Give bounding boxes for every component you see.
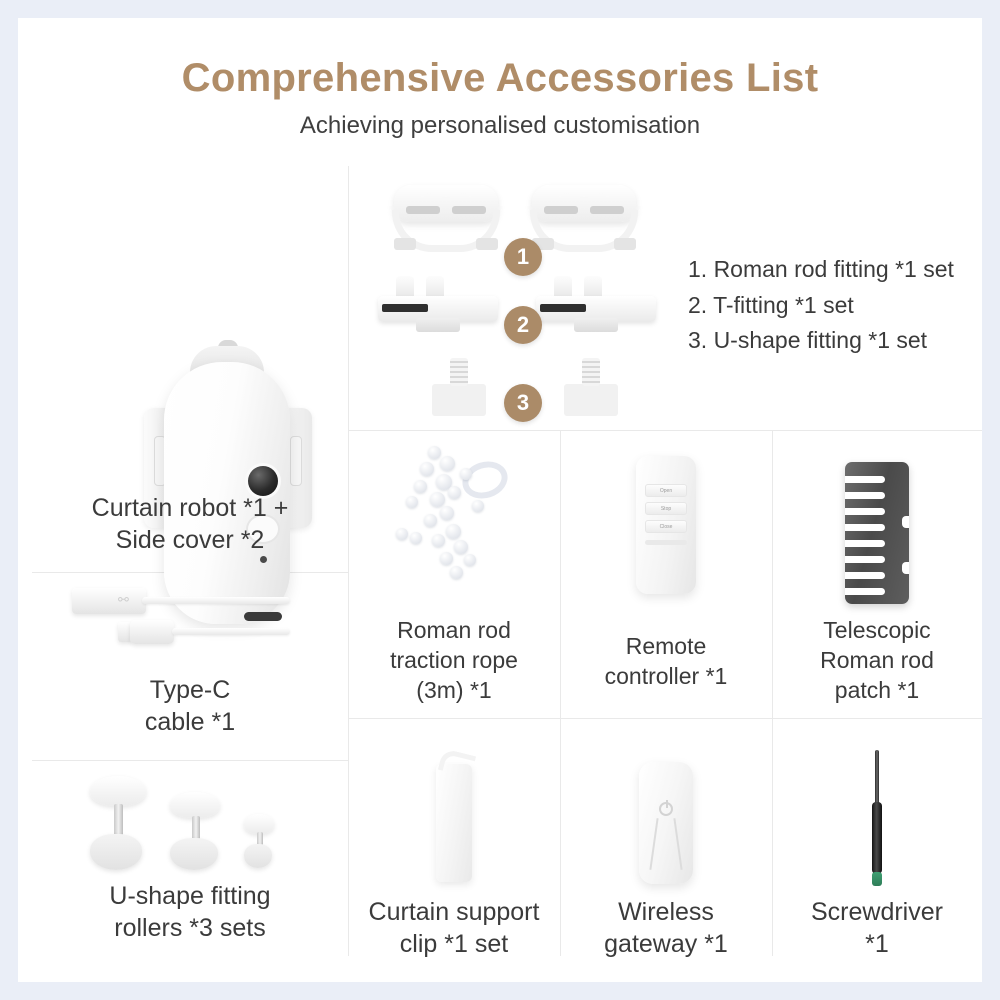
rope-bead [472, 500, 484, 512]
roman-fitting-tip [476, 238, 498, 250]
roller-cap-bottom-icon [90, 834, 142, 870]
screwdriver-image [772, 748, 982, 888]
screwdriver-handle-icon [872, 802, 882, 874]
curtain-support-clip-image [348, 754, 560, 884]
roller-shaft-icon [114, 804, 123, 838]
patch-slot [845, 540, 885, 547]
t-fitting-foot [416, 318, 460, 332]
t-fitting-slot [382, 304, 428, 312]
wireless-gateway-label-line1: Wireless [560, 896, 772, 928]
badge-3: 3 [504, 384, 542, 422]
usb-trident-icon: ⚯ [118, 592, 129, 608]
cell-traction-rope[interactable]: Roman rod traction rope (3m) *1 [348, 430, 560, 718]
page-title: Comprehensive Accessories List [18, 56, 982, 101]
t-fitting-left-icon [378, 274, 498, 336]
rope-bead [448, 486, 461, 499]
roman-fitting-tip [614, 238, 636, 250]
traction-rope-label-line3: (3m) *1 [348, 676, 560, 705]
u-shape-rollers-label-line1: U-shape fitting [32, 880, 348, 912]
telescopic-patch-label-line2: Roman rod [772, 646, 982, 675]
cell-u-shape-rollers[interactable]: U-shape fitting rollers *3 sets [32, 760, 348, 956]
rope-bead [430, 492, 445, 507]
gateway-groove-right [673, 818, 682, 870]
screwdriver-label-line1: Screwdriver [772, 896, 982, 928]
page-subtitle: Achieving personalised customisation [18, 112, 982, 140]
patch-notch [902, 516, 909, 528]
rope-bead [414, 480, 427, 493]
traction-rope-label-line1: Roman rod [348, 616, 560, 645]
patch-slot [845, 508, 885, 515]
t-fitting-right-icon [536, 274, 656, 336]
patch-slot [845, 524, 885, 531]
roller-large [90, 776, 154, 872]
rope-bead [410, 532, 422, 544]
type-c-cable-label-line1: Type-C [32, 674, 348, 706]
u-shape-fitting-left-icon [432, 358, 486, 418]
rope-bead [440, 456, 455, 471]
badge-2: 2 [504, 306, 542, 344]
gateway-body [639, 762, 693, 884]
cell-telescopic-patch[interactable]: Telescopic Roman rod patch *1 [772, 430, 982, 718]
fittings-list-item-2: 2. T-fitting *1 set [688, 288, 978, 324]
support-clip-label-line1: Curtain support [348, 896, 560, 928]
rope-bead [424, 514, 437, 527]
rope-bead [450, 566, 463, 579]
patch-slot [845, 556, 885, 563]
screwdriver-body [868, 750, 886, 886]
roller-cap-top-icon [90, 776, 146, 806]
patch-slot [845, 476, 885, 483]
roman-rod-traction-rope-image [384, 440, 512, 590]
rope-bead [446, 524, 461, 539]
curtain-robot-label-line2: Side cover *2 [32, 524, 348, 556]
fittings-list: 1. Roman rod fitting *1 set 2. T-fitting… [688, 252, 978, 359]
badge-1: 1 [504, 238, 542, 276]
remote-open-button[interactable]: Open [645, 484, 687, 497]
roman-rod-fitting-right-icon [528, 180, 640, 258]
product-accessories-infographic: Comprehensive Accessories List Achieving… [0, 0, 1000, 1000]
fittings-list-item-1: 1. Roman rod fitting *1 set [688, 252, 978, 288]
remote-body: Open Stop Close [636, 456, 696, 594]
t-fitting-foot [574, 318, 618, 332]
cell-type-c-cable[interactable]: ⚯ Type-C cable *1 [32, 572, 348, 760]
u-shape-rollers-label-line2: rollers *3 sets [32, 912, 348, 944]
clip-hook-icon [438, 748, 476, 778]
screwdriver-tip-icon [872, 872, 882, 886]
usb-c-wire-icon [172, 628, 290, 635]
telescopic-roman-rod-patch-image [772, 458, 982, 608]
patch-body [845, 462, 909, 604]
power-symbol-icon [659, 802, 673, 816]
roller-cap-bottom-icon [244, 844, 272, 868]
gateway-groove-left [649, 818, 658, 870]
screwdriver-label-line2: *1 [772, 928, 982, 960]
robot-led-indicator-icon [260, 556, 267, 563]
rope-bead [440, 506, 454, 520]
u-shape-rollers-image [74, 768, 294, 878]
patch-notch [902, 562, 909, 574]
usb-c-housing-icon [130, 620, 174, 644]
rope-bead [460, 468, 472, 480]
roman-fitting-tip [394, 238, 416, 250]
u-shape-fitting-right-icon [564, 358, 618, 418]
remote-controller-label-line2: controller *1 [560, 662, 772, 691]
cell-screwdriver[interactable]: Screwdriver *1 [772, 718, 982, 956]
rope-loop-icon [458, 456, 513, 504]
cell-curtain-robot[interactable]: Curtain robot *1 + Side cover *2 [32, 166, 348, 572]
remote-close-button[interactable]: Close [645, 520, 687, 533]
rope-bead [406, 496, 418, 508]
rope-bead [428, 446, 441, 459]
remote-controller-image: Open Stop Close [560, 450, 772, 600]
patch-slot [845, 492, 885, 499]
u-fitting-stem [450, 358, 468, 386]
t-fitting-slot [540, 304, 586, 312]
u-fitting-base [432, 384, 486, 416]
rope-bead [432, 534, 445, 547]
clip-body [436, 764, 472, 882]
type-c-cable-image: ⚯ [72, 588, 292, 654]
rope-bead [440, 552, 453, 565]
cell-wireless-gateway[interactable]: Wireless gateway *1 [560, 718, 772, 956]
roller-cap-bottom-icon [170, 838, 218, 870]
roller-cap-top-icon [170, 792, 220, 818]
rope-bead [420, 462, 434, 476]
patch-slot [845, 572, 885, 579]
cell-curtain-support-clip[interactable]: Curtain support clip *1 set [348, 718, 560, 956]
u-fitting-stem [582, 358, 600, 386]
telescopic-patch-label-line1: Telescopic [772, 616, 982, 645]
telescopic-patch-label-line3: patch *1 [772, 676, 982, 705]
remote-stop-button[interactable]: Stop [645, 502, 687, 515]
type-c-cable-label-line2: cable *1 [32, 706, 348, 738]
roman-rod-fitting-left-icon [390, 180, 502, 258]
support-clip-label-line2: clip *1 set [348, 928, 560, 960]
rope-bead [454, 540, 468, 554]
content-card: Comprehensive Accessories List Achieving… [18, 18, 982, 982]
rope-bead [464, 554, 476, 566]
wireless-gateway-label-line2: gateway *1 [560, 928, 772, 960]
rope-bead [396, 528, 408, 540]
traction-rope-label-line2: traction rope [348, 646, 560, 675]
remote-slot-icon [645, 540, 687, 545]
usb-a-wire-icon [142, 597, 290, 604]
side-cover-slot-icon [290, 436, 302, 486]
remote-controller-label-line1: Remote [560, 632, 772, 661]
u-fitting-base [564, 384, 618, 416]
cell-remote-controller[interactable]: Open Stop Close Remote controller *1 [560, 430, 772, 718]
roller-small [244, 814, 282, 872]
wireless-gateway-image [560, 754, 772, 884]
usb-a-connector-icon [72, 588, 146, 614]
roller-cap-top-icon [244, 814, 274, 834]
roller-medium [170, 792, 228, 874]
fittings-list-item-3: 3. U-shape fitting *1 set [688, 323, 978, 359]
patch-slot [845, 588, 885, 595]
curtain-robot-label-line1: Curtain robot *1 + [32, 492, 348, 524]
screwdriver-shank-icon [875, 750, 879, 808]
